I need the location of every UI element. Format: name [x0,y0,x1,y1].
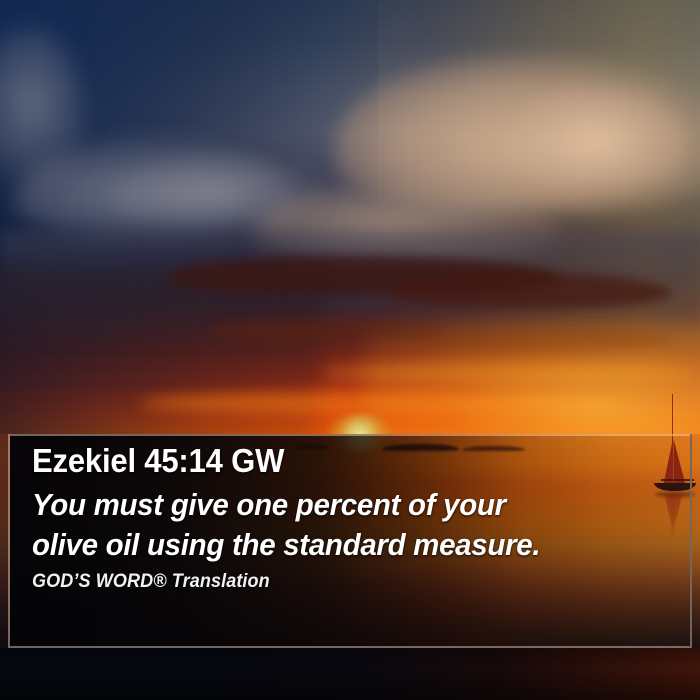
overlay-content: Ezekiel 45:14 GW You must give one perce… [32,442,668,593]
verse-text-line-2: olive oil using the standard measure. [32,525,636,565]
verse-card: Ezekiel 45:14 GW You must give one perce… [0,0,700,700]
verse-overlay-panel: Ezekiel 45:14 GW You must give one perce… [8,434,692,648]
rain-shaft [0,266,322,448]
verse-text: You must give one percent of your olive … [32,485,636,564]
foreground-strip [0,648,700,700]
foreground-vignette [0,648,700,700]
verse-reference: Ezekiel 45:14 GW [32,442,630,481]
translation-attribution: GOD’S WORD® Translation [32,571,636,593]
verse-text-line-1: You must give one percent of your [32,485,636,525]
dark-cloud-band-upper-right [392,273,672,308]
